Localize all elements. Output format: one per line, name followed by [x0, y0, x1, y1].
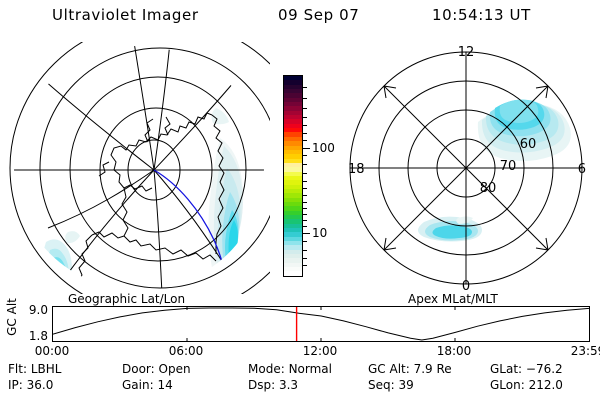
svg-text:18: 18 — [348, 162, 365, 177]
svg-text:60: 60 — [520, 137, 537, 152]
colorbar-minor-tick — [303, 87, 307, 88]
aurora-emission-geographic — [41, 108, 243, 294]
geographic-plot-caption: Geographic Lat/Lon — [68, 292, 185, 306]
colorbar-minor-tick — [303, 164, 307, 165]
status-field-label: Flt: — [8, 362, 31, 376]
timeseries-xtick-label: 00:00 — [35, 344, 70, 358]
status-field-value: Normal — [289, 362, 332, 376]
status-field-label: Gain: — [122, 378, 157, 392]
colorbar-tick-label: 100 — [312, 141, 335, 155]
timeseries-xtick-label: 18:00 — [437, 344, 472, 358]
status-field-value: −76.2 — [526, 362, 563, 376]
colorbar-minor-tick — [303, 258, 307, 259]
colorbar-minor-tick — [303, 173, 307, 174]
colorbar-segment — [284, 271, 302, 275]
geographic-polar-plot[interactable] — [8, 42, 270, 294]
colorbar-minor-tick — [303, 140, 307, 141]
status-field: Gain: 14 — [122, 378, 173, 392]
colorbar-minor-tick — [303, 181, 307, 182]
colorbar-minor-tick — [303, 214, 307, 215]
colorbar-minor-tick — [303, 125, 307, 126]
status-field: IP: 36.0 — [8, 378, 53, 392]
status-field-value: 14 — [157, 378, 172, 392]
status-parameter-panel: Flt: LBHLDoor: OpenMode: NormalGC Alt: 7… — [0, 362, 600, 398]
status-field-value: 36.0 — [27, 378, 54, 392]
colorbar-major-tick — [303, 148, 310, 149]
status-field-value: 7.9 Re — [414, 362, 452, 376]
status-field-label: GC Alt: — [368, 362, 414, 376]
svg-text:12: 12 — [458, 45, 475, 60]
status-field-label: Door: — [122, 362, 159, 376]
colorbar-minor-tick — [303, 241, 307, 242]
timeseries-svg — [53, 307, 589, 341]
colorbar-minor-tick — [303, 117, 307, 118]
apex-plot-svg: 12 18 6 0 60 70 80 — [340, 42, 596, 294]
apex-plot-caption: Apex MLat/MLT — [408, 292, 498, 306]
colorbar-minor-tick — [303, 188, 307, 189]
colorbar-gradient — [283, 75, 303, 277]
svg-text:80: 80 — [480, 181, 497, 196]
status-field-value: 212.0 — [529, 378, 563, 392]
colorbar-minor-tick — [303, 98, 307, 99]
colorbar-ticks — [303, 75, 311, 277]
status-field: Seq: 39 — [368, 378, 414, 392]
status-field-label: Dsp: — [248, 378, 279, 392]
colorbar-minor-tick — [303, 208, 307, 209]
instrument-title: Ultraviolet Imager — [52, 6, 199, 24]
status-field-label: Mode: — [248, 362, 289, 376]
status-field: Mode: Normal — [248, 362, 332, 376]
header-bar: Ultraviolet Imager 09 Sep 07 10:54:13 UT — [0, 6, 600, 32]
observation-date: 09 Sep 07 — [278, 6, 359, 24]
colorbar-minor-tick — [303, 265, 307, 266]
status-field-value: Open — [159, 362, 191, 376]
status-field-label: Seq: — [368, 378, 398, 392]
timeseries-y-ticks: 9.0 1.8 — [14, 306, 48, 342]
timeseries-xtick-label: 23:59 — [571, 344, 600, 358]
colorbar-minor-tick — [303, 202, 307, 203]
status-field-value: LBHL — [31, 362, 62, 376]
gc-altitude-trace — [53, 308, 589, 340]
status-field: GC Alt: 7.9 Re — [368, 362, 452, 376]
colorbar-minor-tick — [303, 195, 307, 196]
timeseries-ytick-bottom: 1.8 — [29, 329, 48, 343]
status-field-label: IP: — [8, 378, 27, 392]
status-field: GLon: 212.0 — [490, 378, 563, 392]
colorbar-minor-tick — [303, 108, 307, 109]
colorbar-minor-tick — [303, 220, 307, 221]
status-field-value: 3.3 — [279, 378, 298, 392]
antarctic-coastline — [78, 113, 224, 282]
apex-mlt-spokes — [350, 52, 582, 284]
colorbar-minor-tick — [303, 226, 307, 227]
colorbar-panel[interactable]: photon cm-2s-1 10010 — [262, 60, 340, 292]
status-field-label: GLat: — [490, 362, 526, 376]
colorbar-minor-tick — [303, 250, 307, 251]
status-field-value: 39 — [398, 378, 413, 392]
timeseries-panel[interactable]: GC Alt 9.0 1.8 Geographic Lat/Lon Apex M… — [0, 292, 600, 354]
geographic-plot-svg — [8, 42, 270, 294]
status-field-label: GLon: — [490, 378, 529, 392]
svg-text:6: 6 — [578, 162, 586, 177]
observation-time: 10:54:13 UT — [432, 6, 531, 24]
timeseries-xtick-label: 06:00 — [169, 344, 204, 358]
colorbar-minor-tick — [303, 133, 307, 134]
timeseries-xtick-label: 12:00 — [303, 344, 338, 358]
colorbar-major-tick — [303, 233, 310, 234]
colorbar-minor-tick — [303, 155, 307, 156]
colorbar-tick-label: 10 — [312, 226, 327, 240]
apex-polar-plot[interactable]: 12 18 6 0 60 70 80 — [340, 42, 596, 294]
status-field: Dsp: 3.3 — [248, 378, 298, 392]
status-field: Flt: LBHL — [8, 362, 61, 376]
timeseries-x-ticks: 00:0006:0012:0018:0023:59 — [0, 344, 600, 360]
uvi-display-root: Ultraviolet Imager 09 Sep 07 10:54:13 UT — [0, 0, 600, 400]
timeseries-plot-box[interactable] — [52, 306, 590, 342]
status-field: Door: Open — [122, 362, 191, 376]
status-field: GLat: −76.2 — [490, 362, 563, 376]
timeseries-top-ticks — [187, 307, 455, 341]
svg-text:70: 70 — [500, 159, 517, 174]
timeseries-ytick-top: 9.0 — [29, 303, 48, 317]
